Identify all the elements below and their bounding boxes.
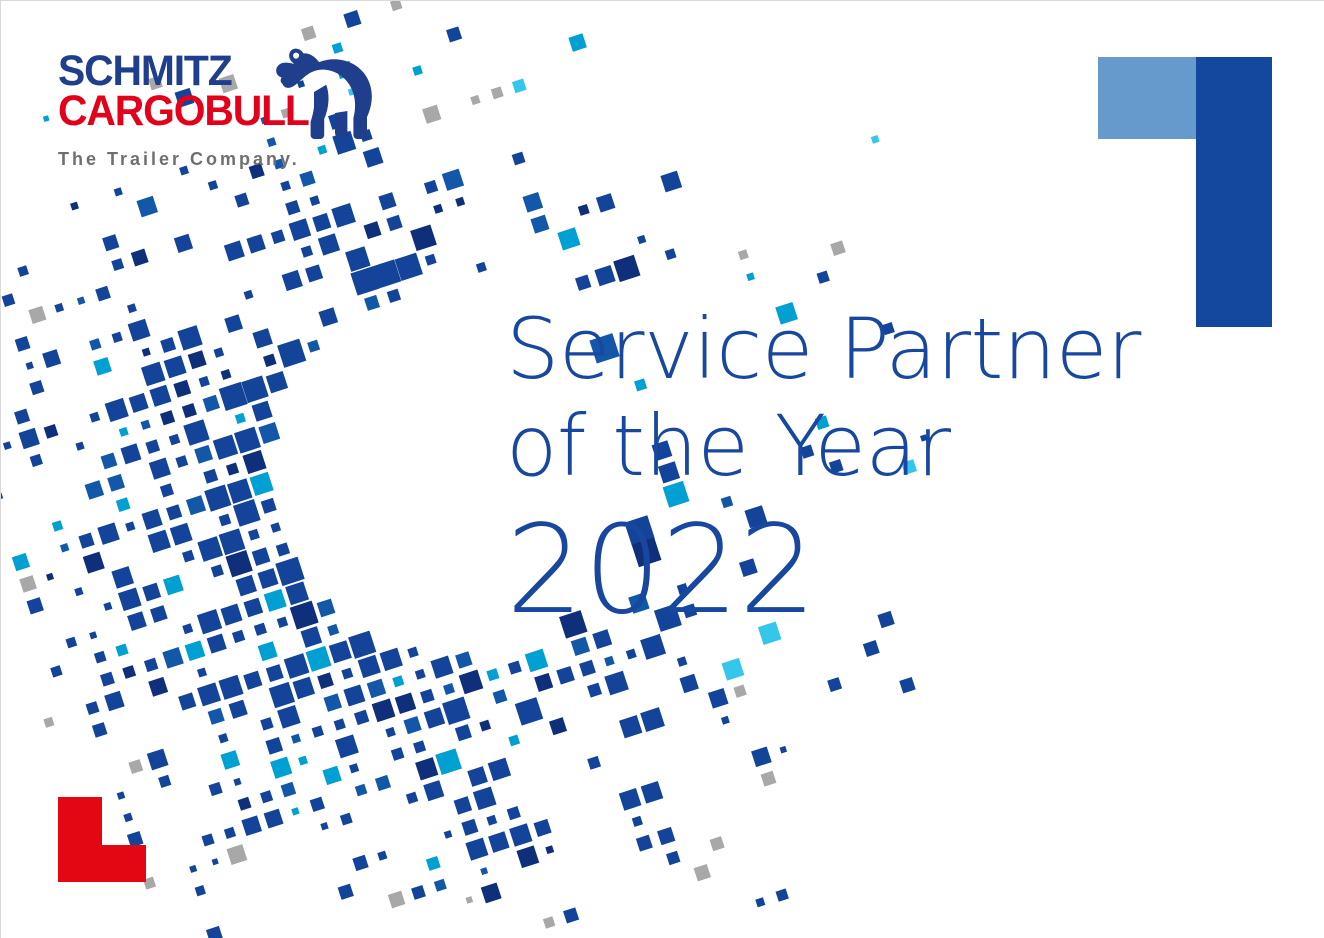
- headline-line-2: of the Year: [506, 398, 1141, 495]
- elephant-icon: [273, 47, 378, 142]
- headline-line-1: Service Partner: [506, 301, 1141, 398]
- red-l-mark: [58, 797, 146, 882]
- brand-logo: SCHMITZ CARGOBULL The Trailer Company.: [58, 51, 378, 170]
- logo-line-cargobull: CARGOBULL: [58, 91, 309, 131]
- corner-block-light: [1098, 57, 1196, 139]
- brand-tagline: The Trailer Company.: [58, 149, 378, 170]
- headline-year: 2022: [506, 502, 1141, 639]
- headline-block: Service Partner of the Year 2022: [506, 301, 1141, 639]
- logo-line-schmitz: SCHMITZ: [58, 51, 309, 91]
- corner-block-dark: [1196, 57, 1272, 327]
- slide-canvas: SCHMITZ CARGOBULL The Trailer Company. S…: [0, 0, 1324, 938]
